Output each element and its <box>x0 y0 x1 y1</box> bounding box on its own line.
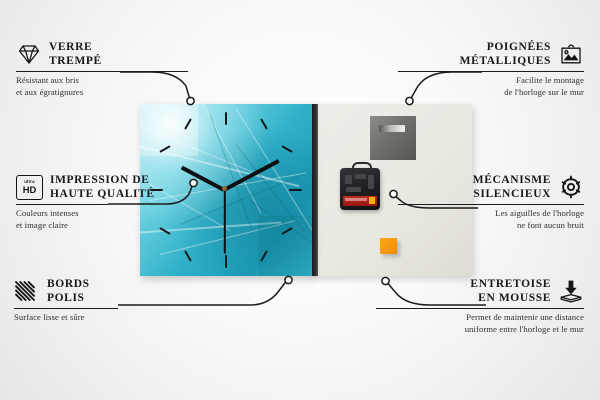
clock-center-hub <box>222 186 227 191</box>
divider <box>398 204 584 205</box>
clock-second-hand <box>224 189 226 253</box>
feature-subtitle: Surface lisse et sûre <box>14 312 200 324</box>
divider <box>14 308 118 309</box>
infographic-canvas: VERRE TREMPÉ Résistant aux bris et aux é… <box>0 0 600 400</box>
clock-tick <box>281 145 292 153</box>
clock-glass-edge <box>312 104 318 276</box>
feature-subtitle: et aux égratignures <box>16 87 202 99</box>
feature-title: HAUTE QUALITÉ <box>50 187 155 201</box>
battery-plus-terminal <box>369 197 375 204</box>
ultra-hd-icon-large-label: HD <box>23 185 37 194</box>
mechanism-detail <box>346 187 361 192</box>
feature-subtitle: de l'horloge sur le mur <box>398 87 584 99</box>
feature-subtitle: et image claire <box>16 220 202 232</box>
feature-subtitle: Permet de maintenir une distance <box>376 312 584 324</box>
foam-spacer-icon <box>558 279 584 303</box>
feature-subtitle: uniforme entre l'horloge et le mur <box>376 324 584 336</box>
foam-spacer <box>380 238 397 254</box>
gear-icon <box>558 175 584 199</box>
polished-edge-icon <box>14 279 40 303</box>
feature-mecanisme-silencieux: MÉCANISME SILENCIEUX Les aiguilles de l'… <box>398 173 584 232</box>
mechanism-detail <box>368 175 374 189</box>
mechanism-detail <box>355 174 366 179</box>
clock-tick <box>225 255 227 268</box>
feature-subtitle: Couleurs intenses <box>16 208 202 220</box>
feature-subtitle: Résistant aux bris <box>16 75 202 87</box>
feature-subtitle: Facilite le montage <box>398 75 584 87</box>
feature-title: MÉTALLIQUES <box>460 54 551 68</box>
feature-bords-polis: BORDS POLIS Surface lisse et sûre <box>14 277 200 324</box>
clock-tick <box>184 250 192 261</box>
divider <box>16 71 188 72</box>
leader-endpoint <box>285 276 292 283</box>
feature-title: VERRE <box>49 40 102 54</box>
feature-title: MÉCANISME <box>473 173 551 187</box>
ultra-hd-icon: ultra HD <box>16 175 43 200</box>
mechanism-detail <box>345 175 352 184</box>
feature-title: BORDS <box>47 277 90 291</box>
metal-hanger-plate <box>370 116 416 160</box>
feature-impression-haute-qualite: ultra HD IMPRESSION DE HAUTE QUALITÉ Cou… <box>16 173 202 232</box>
clock-tick <box>225 112 227 125</box>
clock-tick <box>260 118 268 129</box>
feature-title: SILENCIEUX <box>473 187 551 201</box>
feature-title: TREMPÉ <box>49 54 102 68</box>
clock-tick <box>289 189 302 191</box>
divider <box>376 308 584 309</box>
feature-title: POIGNÉES <box>460 40 551 54</box>
diamond-icon <box>16 42 42 66</box>
feature-title: EN MOUSSE <box>470 291 551 305</box>
feature-title: POLIS <box>47 291 90 305</box>
wall-mount-frame-icon <box>558 42 584 66</box>
hanger-slot <box>379 125 405 132</box>
battery <box>343 196 377 206</box>
divider <box>398 71 584 72</box>
divider <box>16 204 108 205</box>
feature-entretoise-en-mousse: ENTRETOISE EN MOUSSE Permet de maintenir… <box>376 277 584 336</box>
feature-verre-trempe: VERRE TREMPÉ Résistant aux bris et aux é… <box>16 40 202 99</box>
feature-poignees-metalliques: POIGNÉES MÉTALLIQUES Facilite le montage… <box>398 40 584 99</box>
feature-title: IMPRESSION DE <box>50 173 155 187</box>
feature-subtitle: Les aiguilles de l'horloge <box>398 208 584 220</box>
mechanism-hanging-loop <box>352 162 372 174</box>
feature-subtitle: ne font aucun bruit <box>398 220 584 232</box>
clock-mechanism <box>340 168 380 210</box>
feature-title: ENTRETOISE <box>470 277 551 291</box>
battery-label <box>345 198 367 201</box>
